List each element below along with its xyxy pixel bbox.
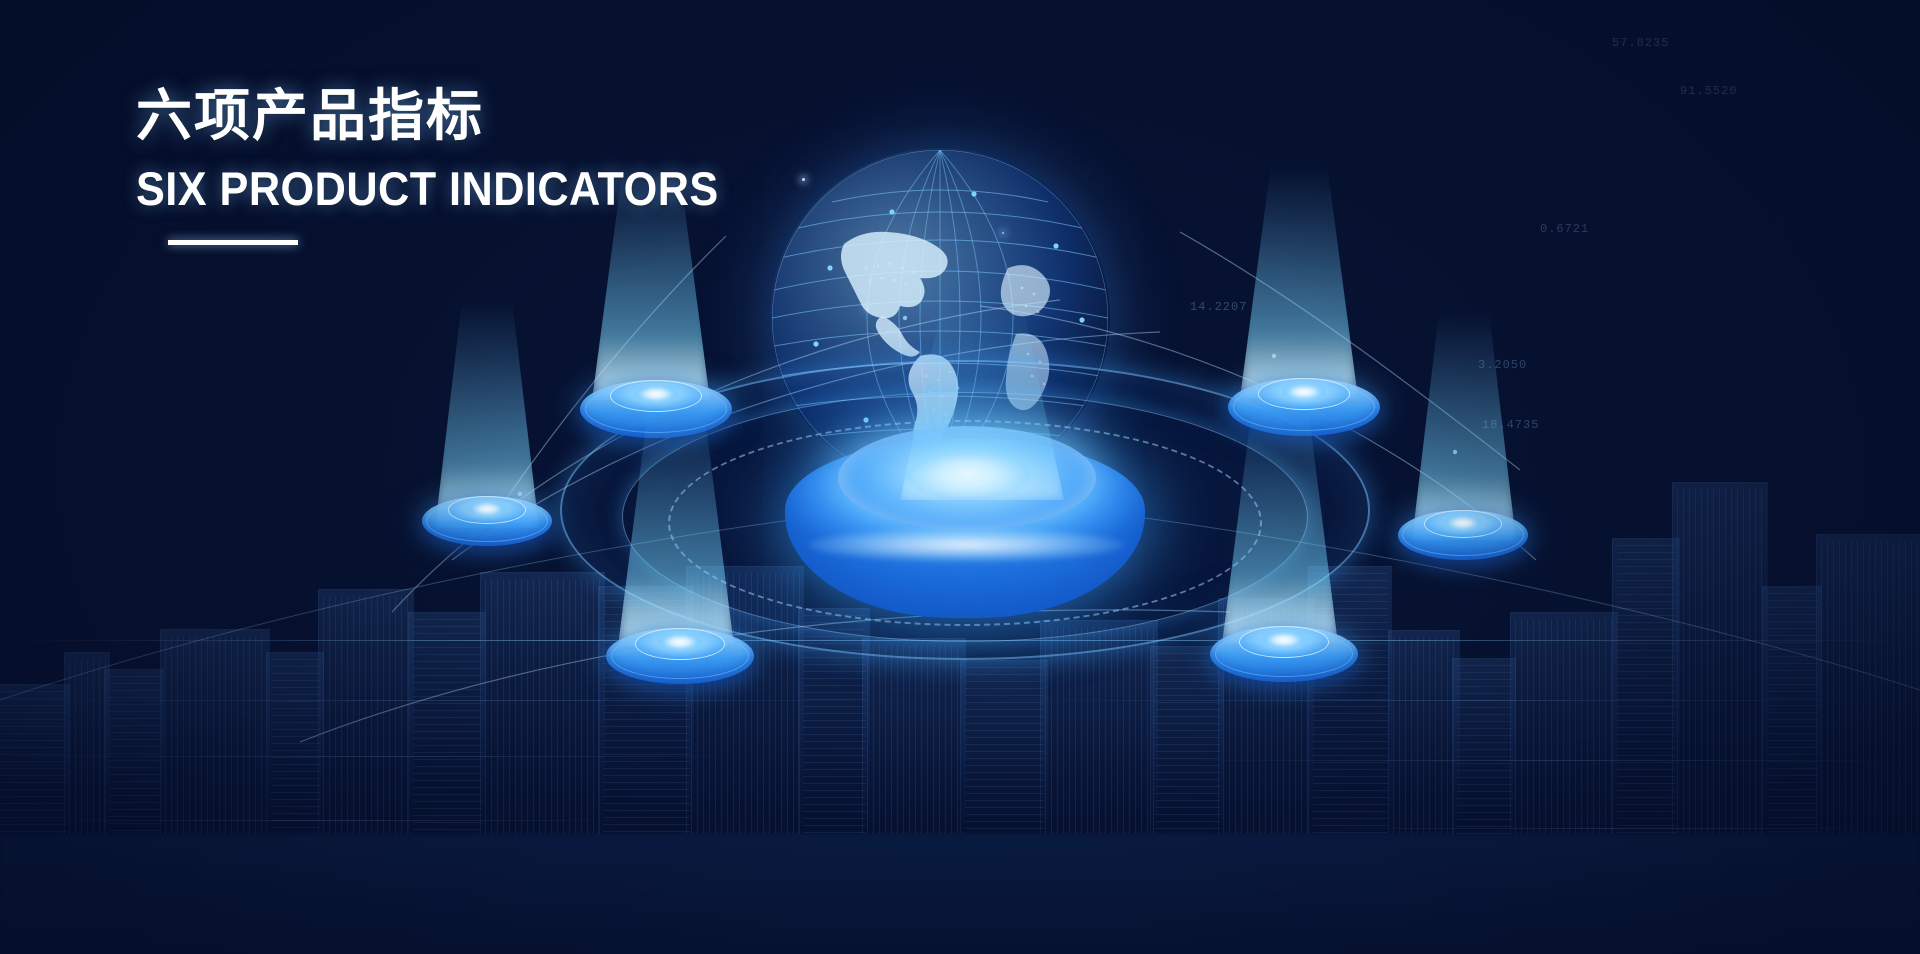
indicator-node-5[interactable] xyxy=(1210,618,1358,688)
bg-code-label: 0.6721 xyxy=(1540,222,1589,236)
city-reflection xyxy=(0,834,1920,954)
indicator-node-1[interactable] xyxy=(422,488,552,550)
page-title-en: SIX PRODUCT INDICATORS xyxy=(136,161,719,216)
title-underline xyxy=(168,240,298,245)
bg-code-label: 91.5520 xyxy=(1680,84,1737,98)
page-title-cn: 六项产品指标 xyxy=(136,86,769,149)
indicator-beam-4 xyxy=(1240,166,1358,398)
bg-code-label: 57.8235 xyxy=(1612,36,1669,50)
banner-stage: 57.8235 91.5520 3.2050 18.4735 0.6721 14… xyxy=(0,0,1920,954)
platform-sheen xyxy=(808,528,1124,562)
indicator-node-3[interactable] xyxy=(606,620,754,690)
indicator-node-6[interactable] xyxy=(1398,502,1528,564)
title-block: 六项产品指标 SIX PRODUCT INDICATORS xyxy=(136,86,769,245)
